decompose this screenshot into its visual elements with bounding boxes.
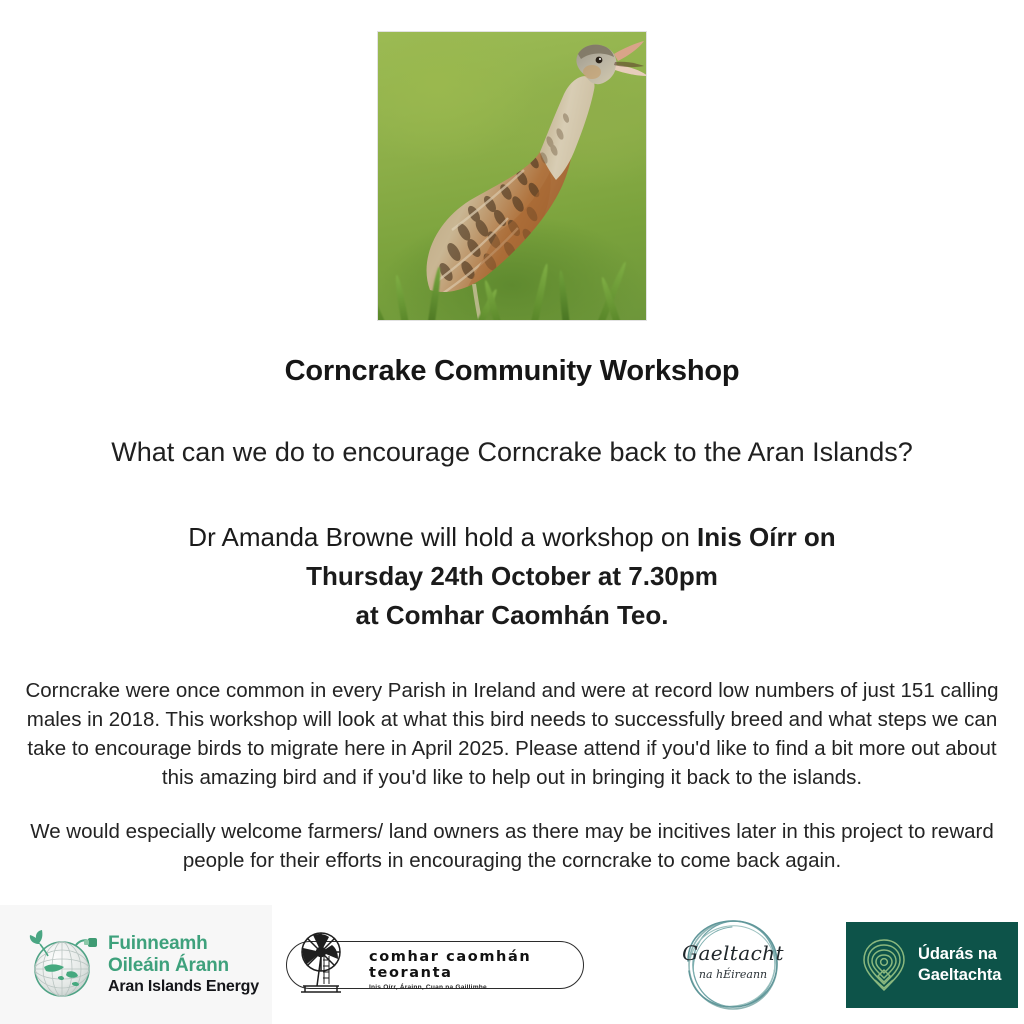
page-title: Corncrake Community Workshop — [0, 355, 1024, 388]
bird-upper-bill — [614, 41, 644, 61]
event-datetime: Thursday 24th October at 7.30pm — [306, 561, 718, 591]
cct-subtitle: Inis Oírr, Árainn, Cuan na Gaillimhe. — [369, 984, 577, 991]
bird-neck — [540, 76, 595, 180]
udaras-panel: Údarás na Gaeltachta — [846, 922, 1018, 1008]
cct-wordmark: comhar caomhán teoranta Inis Oírr, Árain… — [369, 949, 577, 991]
logo-gaeltacht-na-heireann: Gaeltacht na hÉireann — [648, 905, 818, 1024]
udaras-line1: Údarás na — [918, 944, 1001, 964]
udaras-line2: Gaeltachta — [918, 965, 1001, 985]
aie-irish-line1: Fuinneamh — [108, 933, 259, 954]
event-details: Dr Amanda Browne will hold a workshop on… — [0, 518, 1024, 635]
event-location-bold: Inis Oírr on — [697, 522, 836, 552]
event-venue: at Comhar Caomhán Teo. — [355, 600, 668, 630]
logo-strip: Fuinneamh Oileáin Árann Aran Islands Ene… — [0, 905, 1024, 1024]
aie-wordmark: Fuinneamh Oileáin Árann Aran Islands Ene… — [108, 933, 259, 995]
poster-subtitle: What can we do to encourage Corncrake ba… — [0, 437, 1024, 468]
corncrake-photo — [377, 31, 647, 321]
event-presenter-text: Dr Amanda Browne will hold a workshop on — [188, 522, 697, 552]
bird-eye — [596, 57, 603, 64]
gae-wordmark: Gaeltacht na hÉireann — [674, 941, 792, 981]
globe-icon — [22, 927, 98, 1003]
leaf-sprout-icon — [30, 930, 48, 956]
logo-comhar-caomhan-teoranta: comhar caomhán teoranta Inis Oírr, Árain… — [286, 905, 586, 1024]
gae-title: Gaeltacht — [674, 941, 792, 965]
celtic-knot-icon — [858, 936, 910, 994]
cct-outline: comhar caomhán teoranta Inis Oírr, Árain… — [286, 941, 584, 989]
cct-title: comhar caomhán teoranta — [369, 949, 577, 981]
logo-udaras-na-gaeltachta: Údarás na Gaeltachta — [846, 905, 1018, 1024]
grass-foreground — [378, 236, 646, 321]
logo-aran-islands-energy: Fuinneamh Oileáin Árann Aran Islands Ene… — [0, 905, 272, 1024]
aie-irish-line2: Oileáin Árann — [108, 955, 259, 976]
poster-canvas: Corncrake Community Workshop What can we… — [0, 0, 1024, 1024]
gae-subtitle: na hÉireann — [674, 968, 792, 981]
power-plug-icon — [76, 938, 97, 947]
paragraph-2: We would especially welcome farmers/ lan… — [10, 817, 1014, 875]
aie-english-name: Aran Islands Energy — [108, 978, 259, 996]
body-copy: Corncrake were once common in every Pari… — [10, 676, 1014, 875]
bird-cheek-patch — [583, 65, 601, 79]
bird-eye-glint — [599, 58, 601, 60]
wind-turbine-icon — [283, 926, 357, 1000]
udaras-wordmark: Údarás na Gaeltachta — [918, 944, 1001, 984]
paragraph-1: Corncrake were once common in every Pari… — [10, 676, 1014, 792]
